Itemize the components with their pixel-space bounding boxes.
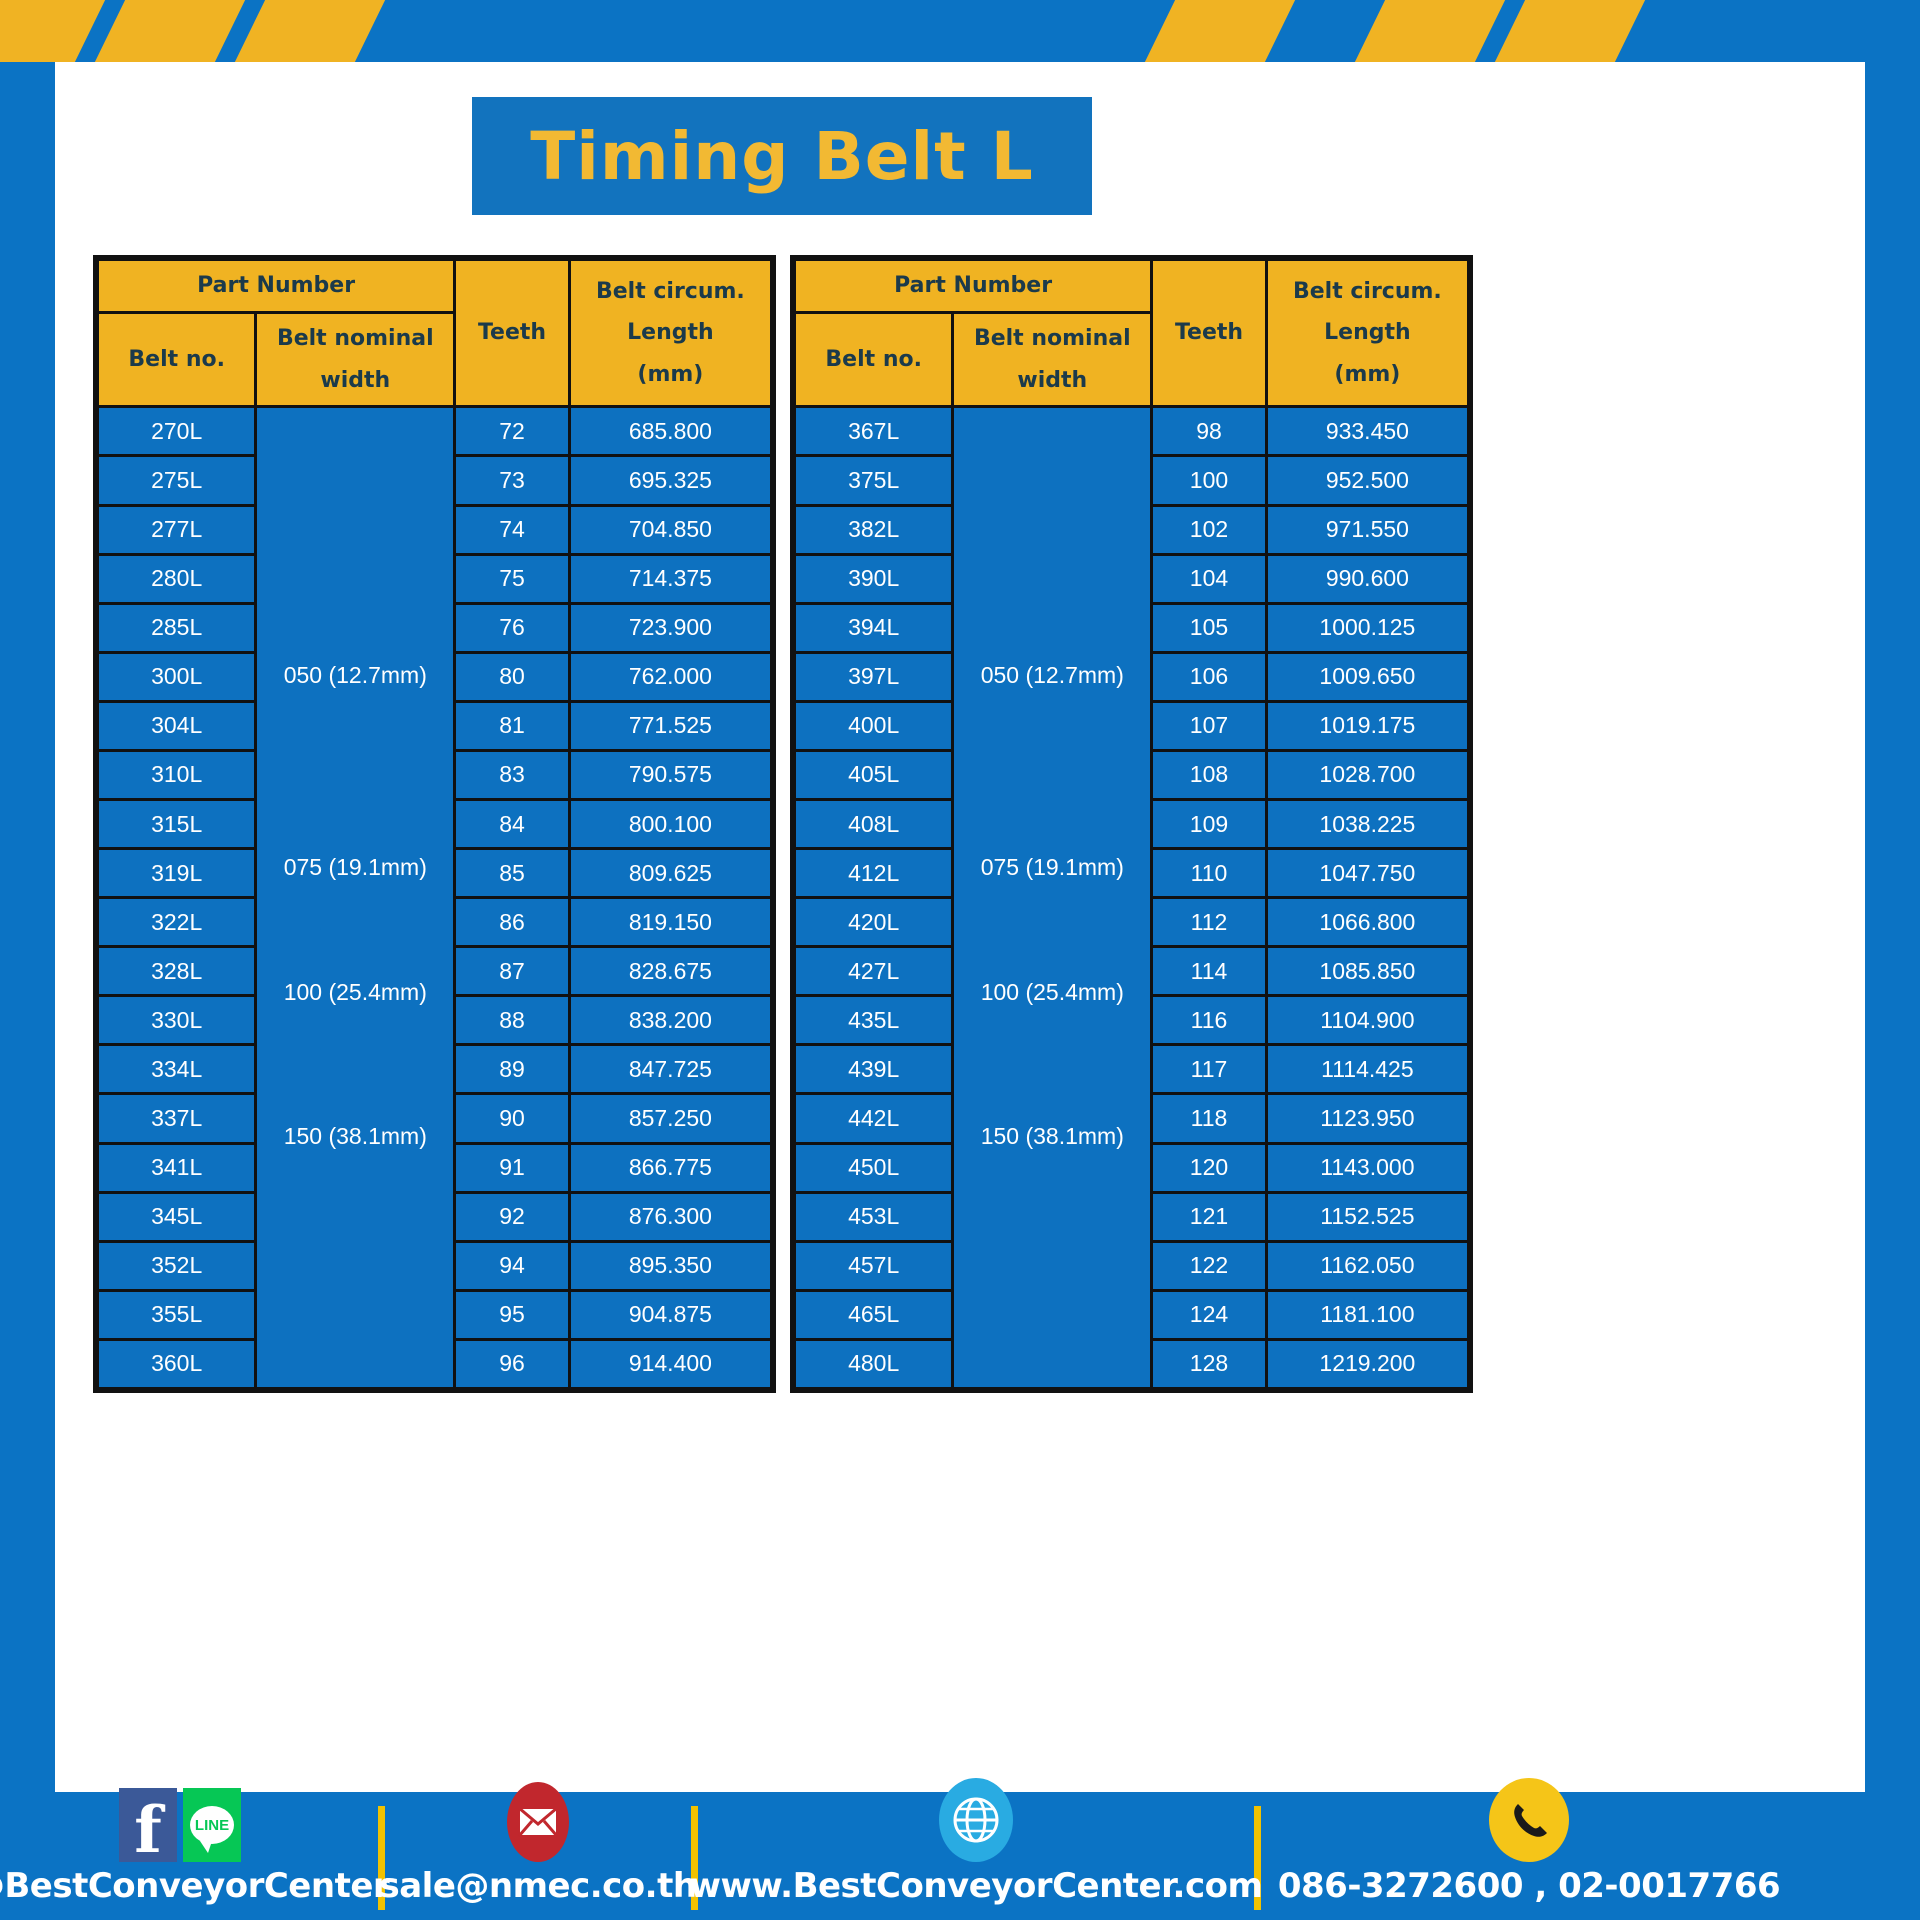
poster-root: Timing Belt L Part Number Teeth Belt cir… xyxy=(0,0,1920,1920)
chevron-shape xyxy=(1352,0,1508,62)
cell-teeth: 98 xyxy=(1152,407,1267,456)
header-belt-no: Belt no. xyxy=(795,312,953,407)
footer-email-block[interactable]: sale@nmec.co.th xyxy=(403,1792,673,1920)
cell-length-mm: 685.800 xyxy=(569,407,771,456)
header-belt-nominal-line2: width xyxy=(956,360,1148,402)
globe-icon[interactable] xyxy=(939,1778,1013,1862)
width-label: 100 (25.4mm) xyxy=(956,979,1148,1006)
cell-length-mm: 790.575 xyxy=(569,750,771,799)
cell-length-mm: 1152.525 xyxy=(1266,1192,1468,1241)
width-label: 075 (19.1mm) xyxy=(259,854,451,881)
cell-belt-no: 442L xyxy=(795,1094,953,1143)
cell-length-mm: 904.875 xyxy=(569,1290,771,1339)
phone-icon[interactable] xyxy=(1489,1778,1569,1862)
header-belt-nominal-width: Belt nominal width xyxy=(256,312,455,407)
cell-length-mm: 895.350 xyxy=(569,1241,771,1290)
footer-social-block[interactable]: f LINE @BestConveyorCenter xyxy=(0,1792,360,1920)
cell-belt-no: 412L xyxy=(795,849,953,898)
header-belt-nominal-line1: Belt nominal xyxy=(259,318,451,360)
cell-teeth: 88 xyxy=(455,996,570,1045)
cell-belt-no: 319L xyxy=(98,849,256,898)
top-chevron-strip xyxy=(0,0,1920,62)
chevron-shape xyxy=(1492,0,1648,62)
cell-belt-no: 280L xyxy=(98,554,256,603)
cell-teeth: 112 xyxy=(1152,898,1267,947)
cell-length-mm: 866.775 xyxy=(569,1143,771,1192)
cell-teeth: 73 xyxy=(455,456,570,505)
cell-teeth: 124 xyxy=(1152,1290,1267,1339)
cell-teeth: 87 xyxy=(455,947,570,996)
width-label: 050 (12.7mm) xyxy=(956,662,1148,689)
cell-length-mm: 847.725 xyxy=(569,1045,771,1094)
cell-belt-no: 337L xyxy=(98,1094,256,1143)
cell-belt-no: 322L xyxy=(98,898,256,947)
cell-length-mm: 704.850 xyxy=(569,505,771,554)
cell-teeth: 80 xyxy=(455,652,570,701)
width-label: 150 (38.1mm) xyxy=(956,1123,1148,1150)
cell-length-mm: 771.525 xyxy=(569,701,771,750)
table-row: 367L050 (12.7mm)075 (19.1mm)100 (25.4mm)… xyxy=(795,407,1469,456)
cell-length-mm: 1104.900 xyxy=(1266,996,1468,1045)
table-body-left: 270L050 (12.7mm)075 (19.1mm)100 (25.4mm)… xyxy=(98,407,772,1389)
cell-belt-no: 345L xyxy=(98,1192,256,1241)
cell-teeth: 81 xyxy=(455,701,570,750)
header-belt-nominal-width: Belt nominal width xyxy=(953,312,1152,407)
cell-length-mm: 1181.100 xyxy=(1266,1290,1468,1339)
cell-belt-no: 328L xyxy=(98,947,256,996)
footer-social-handle[interactable]: @BestConveyorCenter xyxy=(0,1866,389,1920)
cell-belt-no: 427L xyxy=(795,947,953,996)
cell-teeth: 74 xyxy=(455,505,570,554)
cell-teeth: 117 xyxy=(1152,1045,1267,1094)
cell-belt-no: 275L xyxy=(98,456,256,505)
header-unit-line: (mm) xyxy=(1270,354,1465,396)
cell-teeth: 85 xyxy=(455,849,570,898)
cell-belt-no: 439L xyxy=(795,1045,953,1094)
cell-length-mm: 990.600 xyxy=(1266,554,1468,603)
header-belt-circum: Belt circum. Length (mm) xyxy=(1266,260,1468,407)
cell-belt-no: 397L xyxy=(795,652,953,701)
cell-belt-no: 408L xyxy=(795,800,953,849)
cell-belt-no: 285L xyxy=(98,603,256,652)
cell-length-mm: 1162.050 xyxy=(1266,1241,1468,1290)
cell-length-mm: 714.375 xyxy=(569,554,771,603)
belt-table-left: Part Number Teeth Belt circum. Length (m… xyxy=(93,255,776,1393)
footer-phone-text[interactable]: 086-3272600 , 02-0017766 xyxy=(1278,1866,1780,1920)
header-belt-no: Belt no. xyxy=(98,312,256,407)
cell-belt-no: 450L xyxy=(795,1143,953,1192)
cell-teeth: 92 xyxy=(455,1192,570,1241)
cell-length-mm: 933.450 xyxy=(1266,407,1468,456)
header-belt-nominal-line2: width xyxy=(259,360,451,402)
cell-teeth: 105 xyxy=(1152,603,1267,652)
cell-teeth: 118 xyxy=(1152,1094,1267,1143)
cell-belt-no: 480L xyxy=(795,1339,953,1388)
facebook-icon[interactable]: f xyxy=(119,1788,177,1862)
cell-length-mm: 1047.750 xyxy=(1266,849,1468,898)
cell-length-mm: 971.550 xyxy=(1266,505,1468,554)
cell-teeth: 100 xyxy=(1152,456,1267,505)
header-belt-circum: Belt circum. Length (mm) xyxy=(569,260,771,407)
footer-email-text[interactable]: sale@nmec.co.th xyxy=(379,1866,696,1920)
cell-length-mm: 1123.950 xyxy=(1266,1094,1468,1143)
cell-teeth: 106 xyxy=(1152,652,1267,701)
width-label: 100 (25.4mm) xyxy=(259,979,451,1006)
cell-length-mm: 1114.425 xyxy=(1266,1045,1468,1094)
cell-length-mm: 723.900 xyxy=(569,603,771,652)
cell-belt-no: 400L xyxy=(795,701,953,750)
cell-teeth: 108 xyxy=(1152,750,1267,799)
footer-website-text[interactable]: www.BestConveyorCenter.com xyxy=(690,1866,1263,1920)
cell-length-mm: 828.675 xyxy=(569,947,771,996)
header-teeth: Teeth xyxy=(455,260,570,407)
cell-teeth: 84 xyxy=(455,800,570,849)
header-belt-nominal-line1: Belt nominal xyxy=(956,318,1148,360)
page-title: Timing Belt L xyxy=(472,97,1092,215)
cell-teeth: 76 xyxy=(455,603,570,652)
header-belt-circum-line1: Belt circum. xyxy=(1270,271,1465,313)
cell-length-mm: 1028.700 xyxy=(1266,750,1468,799)
cell-belt-no: 453L xyxy=(795,1192,953,1241)
cell-belt-no: 270L xyxy=(98,407,256,456)
footer-website-block[interactable]: www.BestConveyorCenter.com xyxy=(716,1792,1236,1920)
cell-belt-no: 394L xyxy=(795,603,953,652)
width-label: 150 (38.1mm) xyxy=(259,1123,451,1150)
cell-length-mm: 695.325 xyxy=(569,456,771,505)
footer-social-icons: f LINE xyxy=(119,1788,241,1862)
cell-length-mm: 1000.125 xyxy=(1266,603,1468,652)
cell-length-mm: 819.150 xyxy=(569,898,771,947)
cell-belt-no: 405L xyxy=(795,750,953,799)
header-part-number: Part Number xyxy=(795,260,1152,313)
cell-teeth: 121 xyxy=(1152,1192,1267,1241)
header-teeth: Teeth xyxy=(1152,260,1267,407)
cell-length-mm: 914.400 xyxy=(569,1339,771,1388)
cell-belt-no: 300L xyxy=(98,652,256,701)
cell-teeth: 128 xyxy=(1152,1339,1267,1388)
cell-belt-no: 277L xyxy=(98,505,256,554)
cell-length-mm: 1219.200 xyxy=(1266,1339,1468,1388)
header-length-line: Length xyxy=(1270,312,1465,354)
cell-belt-no: 341L xyxy=(98,1143,256,1192)
cell-belt-no: 367L xyxy=(795,407,953,456)
table-body-right: 367L050 (12.7mm)075 (19.1mm)100 (25.4mm)… xyxy=(795,407,1469,1389)
cell-belt-no: 375L xyxy=(795,456,953,505)
header-length-line: Length xyxy=(573,312,768,354)
cell-belt-nominal-width: 050 (12.7mm)075 (19.1mm)100 (25.4mm)150 … xyxy=(256,407,455,1389)
cell-length-mm: 1143.000 xyxy=(1266,1143,1468,1192)
cell-belt-nominal-width: 050 (12.7mm)075 (19.1mm)100 (25.4mm)150 … xyxy=(953,407,1152,1389)
cell-teeth: 110 xyxy=(1152,849,1267,898)
cell-belt-no: 334L xyxy=(98,1045,256,1094)
cell-belt-no: 315L xyxy=(98,800,256,849)
cell-length-mm: 1038.225 xyxy=(1266,800,1468,849)
footer-website-icons xyxy=(939,1778,1013,1862)
cell-teeth: 114 xyxy=(1152,947,1267,996)
line-icon[interactable]: LINE xyxy=(183,1788,241,1862)
cell-belt-no: 457L xyxy=(795,1241,953,1290)
header-unit-line: (mm) xyxy=(573,354,768,396)
cell-belt-no: 355L xyxy=(98,1290,256,1339)
cell-belt-no: 465L xyxy=(795,1290,953,1339)
width-label: 050 (12.7mm) xyxy=(259,662,451,689)
cell-teeth: 91 xyxy=(455,1143,570,1192)
cell-belt-no: 382L xyxy=(795,505,953,554)
cell-teeth: 72 xyxy=(455,407,570,456)
cell-belt-no: 330L xyxy=(98,996,256,1045)
cell-teeth: 83 xyxy=(455,750,570,799)
cell-length-mm: 762.000 xyxy=(569,652,771,701)
cell-length-mm: 1066.800 xyxy=(1266,898,1468,947)
cell-teeth: 86 xyxy=(455,898,570,947)
cell-teeth: 104 xyxy=(1152,554,1267,603)
footer-phone-icons xyxy=(1489,1778,1569,1862)
cell-belt-no: 390L xyxy=(795,554,953,603)
cell-teeth: 95 xyxy=(455,1290,570,1339)
cell-teeth: 122 xyxy=(1152,1241,1267,1290)
page-title-text: Timing Belt L xyxy=(530,118,1034,195)
chevron-shape xyxy=(92,0,248,62)
cell-teeth: 120 xyxy=(1152,1143,1267,1192)
header-part-number: Part Number xyxy=(98,260,455,313)
cell-teeth: 75 xyxy=(455,554,570,603)
cell-length-mm: 809.625 xyxy=(569,849,771,898)
cell-teeth: 96 xyxy=(455,1339,570,1388)
header-belt-circum-line1: Belt circum. xyxy=(573,271,768,313)
cell-belt-no: 304L xyxy=(98,701,256,750)
cell-length-mm: 1009.650 xyxy=(1266,652,1468,701)
cell-length-mm: 857.250 xyxy=(569,1094,771,1143)
cell-belt-no: 435L xyxy=(795,996,953,1045)
cell-teeth: 107 xyxy=(1152,701,1267,750)
cell-belt-no: 310L xyxy=(98,750,256,799)
cell-belt-no: 360L xyxy=(98,1339,256,1388)
email-icon[interactable] xyxy=(507,1782,569,1862)
cell-length-mm: 838.200 xyxy=(569,996,771,1045)
footer-email-icons xyxy=(507,1782,569,1862)
cell-length-mm: 1019.175 xyxy=(1266,701,1468,750)
cell-length-mm: 952.500 xyxy=(1266,456,1468,505)
cell-teeth: 89 xyxy=(455,1045,570,1094)
cell-belt-no: 420L xyxy=(795,898,953,947)
cell-belt-no: 352L xyxy=(98,1241,256,1290)
table-row: 270L050 (12.7mm)075 (19.1mm)100 (25.4mm)… xyxy=(98,407,772,456)
footer-phone-block[interactable]: 086-3272600 , 02-0017766 xyxy=(1279,1792,1779,1920)
chevron-shape xyxy=(232,0,388,62)
width-label: 075 (19.1mm) xyxy=(956,854,1148,881)
chevron-shape xyxy=(0,0,108,62)
cell-length-mm: 1085.850 xyxy=(1266,947,1468,996)
cell-teeth: 94 xyxy=(455,1241,570,1290)
belt-table-right: Part Number Teeth Belt circum. Length (m… xyxy=(790,255,1473,1393)
chevron-shape xyxy=(1142,0,1298,62)
contact-footer: f LINE @BestConveyorCenter sale@nmec.co.… xyxy=(0,1792,1920,1920)
cell-teeth: 116 xyxy=(1152,996,1267,1045)
cell-teeth: 90 xyxy=(455,1094,570,1143)
cell-length-mm: 800.100 xyxy=(569,800,771,849)
cell-length-mm: 876.300 xyxy=(569,1192,771,1241)
cell-teeth: 102 xyxy=(1152,505,1267,554)
cell-teeth: 109 xyxy=(1152,800,1267,849)
